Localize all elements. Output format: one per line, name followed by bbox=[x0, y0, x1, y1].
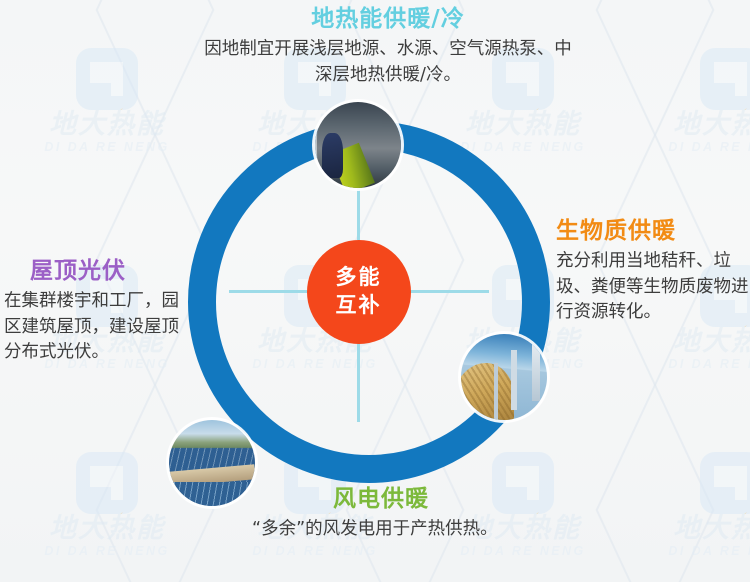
center-hub: 多能 互补 bbox=[307, 240, 411, 344]
didareneng-rainbow-logo-icon bbox=[76, 48, 138, 110]
watermark-cn-text: 地大热能 bbox=[638, 111, 750, 140]
hub-line-2: 互补 bbox=[336, 292, 382, 320]
watermark-en-text: DI DA RE NENG bbox=[638, 544, 750, 558]
watermark-tile: 地大热能 DI DA RE NENG bbox=[638, 452, 750, 558]
watermark-en-text: DI DA RE NENG bbox=[14, 544, 200, 558]
multi-energy-complementarity-infographic: 地大热能 DI DA RE NENG 地大热能 DI DA RE NENG 地大… bbox=[0, 0, 750, 582]
biomass-title: 生物质供暖 bbox=[556, 218, 750, 244]
spoke-bottom bbox=[357, 342, 360, 422]
geothermal-body: 因地制宜开展浅层地源、水源、空气源热泵、中深层地热供暖/冷。 bbox=[198, 37, 578, 87]
biomass-straw-plant-photo bbox=[461, 334, 547, 420]
didareneng-rainbow-logo-icon bbox=[76, 452, 138, 514]
watermark-en-text: DI DA RE NENG bbox=[638, 140, 750, 154]
solar-body: 在集群楼宇和工厂，园区建筑屋顶，建设屋顶分布式光伏。 bbox=[4, 289, 180, 365]
geothermal-heat-pump-photo bbox=[315, 102, 401, 188]
spoke-right bbox=[409, 290, 489, 293]
wind-title: 风电供暖 bbox=[236, 486, 526, 512]
block-geothermal: 地热能供暖/冷 因地制宜开展浅层地源、水源、空气源热泵、中深层地热供暖/冷。 bbox=[198, 6, 578, 88]
wind-body: “多余”的风发电用于产热供热。 bbox=[236, 517, 526, 542]
energy-wheel-diagram: 多能 互补 bbox=[171, 104, 546, 479]
geothermal-title: 地热能供暖/冷 bbox=[198, 6, 578, 32]
watermark-cn-text: 地大热能 bbox=[638, 515, 750, 544]
watermark-cn-text: 地大热能 bbox=[14, 515, 200, 544]
watermark-tile: 地大热能 DI DA RE NENG bbox=[638, 48, 750, 154]
block-solar: 屋顶光伏 在集群楼宇和工厂，园区建筑屋顶，建设屋顶分布式光伏。 bbox=[4, 258, 180, 365]
watermark-cn-text: 地大热能 bbox=[638, 328, 750, 357]
biomass-body: 充分利用当地秸秆、垃圾、粪便等生物质废物进行资源转化。 bbox=[556, 249, 750, 325]
block-wind: 风电供暖 “多余”的风发电用于产热供热。 bbox=[236, 486, 526, 543]
block-biomass: 生物质供暖 充分利用当地秸秆、垃圾、粪便等生物质废物进行资源转化。 bbox=[556, 218, 750, 325]
watermark-en-text: DI DA RE NENG bbox=[222, 544, 408, 558]
hub-line-1: 多能 bbox=[336, 264, 382, 292]
didareneng-rainbow-logo-icon bbox=[700, 48, 750, 110]
spoke-left bbox=[229, 290, 307, 293]
watermark-en-text: DI DA RE NENG bbox=[430, 544, 616, 558]
solar-title: 屋顶光伏 bbox=[4, 258, 180, 284]
watermark-en-text: DI DA RE NENG bbox=[638, 357, 750, 371]
didareneng-rainbow-logo-icon bbox=[700, 452, 750, 514]
